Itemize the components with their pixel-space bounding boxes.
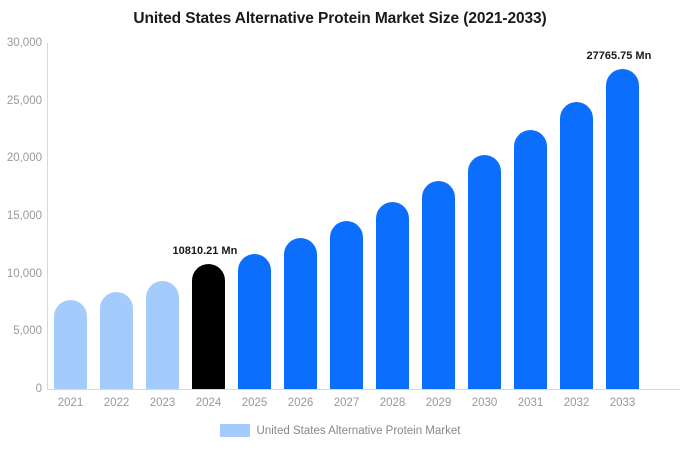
y-axis-tick-label: 0	[0, 383, 42, 395]
y-axis-tick-label: 10,000	[0, 268, 42, 280]
x-axis-tick-label: 2026	[278, 397, 324, 409]
y-axis-tick-label: 30,000	[0, 37, 42, 49]
bar[interactable]	[376, 202, 409, 389]
data-point-label: 10810.21 Mn	[173, 245, 238, 257]
plot-area: 2021202220232024202520262027202820292030…	[47, 43, 680, 389]
bar[interactable]	[422, 181, 455, 389]
y-axis-tick-label: 5,000	[0, 325, 42, 337]
x-axis-tick-label: 2023	[140, 397, 186, 409]
x-axis-line	[47, 389, 680, 390]
y-axis-tick-label: 20,000	[0, 152, 42, 164]
x-axis-tick-label: 2024	[186, 397, 232, 409]
x-axis-tick-label: 2021	[48, 397, 94, 409]
bar[interactable]	[606, 69, 639, 389]
bar[interactable]	[468, 155, 501, 389]
legend-swatch-icon	[220, 424, 250, 437]
chart-title: United States Alternative Protein Market…	[0, 10, 680, 28]
bar[interactable]	[330, 221, 363, 389]
x-axis-tick-label: 2027	[324, 397, 370, 409]
bar[interactable]	[560, 102, 593, 389]
x-axis-tick-label: 2028	[370, 397, 416, 409]
bar[interactable]	[192, 264, 225, 389]
x-axis-tick-label: 2022	[94, 397, 140, 409]
bar[interactable]	[514, 130, 547, 389]
bar-chart: United States Alternative Protein Market…	[0, 0, 680, 450]
x-axis-tick-label: 2025	[232, 397, 278, 409]
y-axis-line	[47, 43, 48, 389]
bar[interactable]	[146, 281, 179, 389]
x-axis-tick-label: 2029	[416, 397, 462, 409]
data-point-label: 27765.75 Mn	[587, 50, 652, 62]
bar[interactable]	[284, 238, 317, 389]
bar[interactable]	[238, 254, 271, 389]
bar[interactable]	[54, 300, 87, 389]
x-axis-tick-label: 2030	[462, 397, 508, 409]
y-axis-tick-label: 15,000	[0, 210, 42, 222]
x-axis-tick-label: 2031	[508, 397, 554, 409]
x-axis-tick-label: 2032	[554, 397, 600, 409]
legend: United States Alternative Protein Market	[0, 424, 680, 437]
legend-item-label: United States Alternative Protein Market	[257, 425, 461, 437]
x-axis-tick-label: 2033	[600, 397, 646, 409]
bar[interactable]	[100, 292, 133, 389]
y-axis-tick-label: 25,000	[0, 95, 42, 107]
